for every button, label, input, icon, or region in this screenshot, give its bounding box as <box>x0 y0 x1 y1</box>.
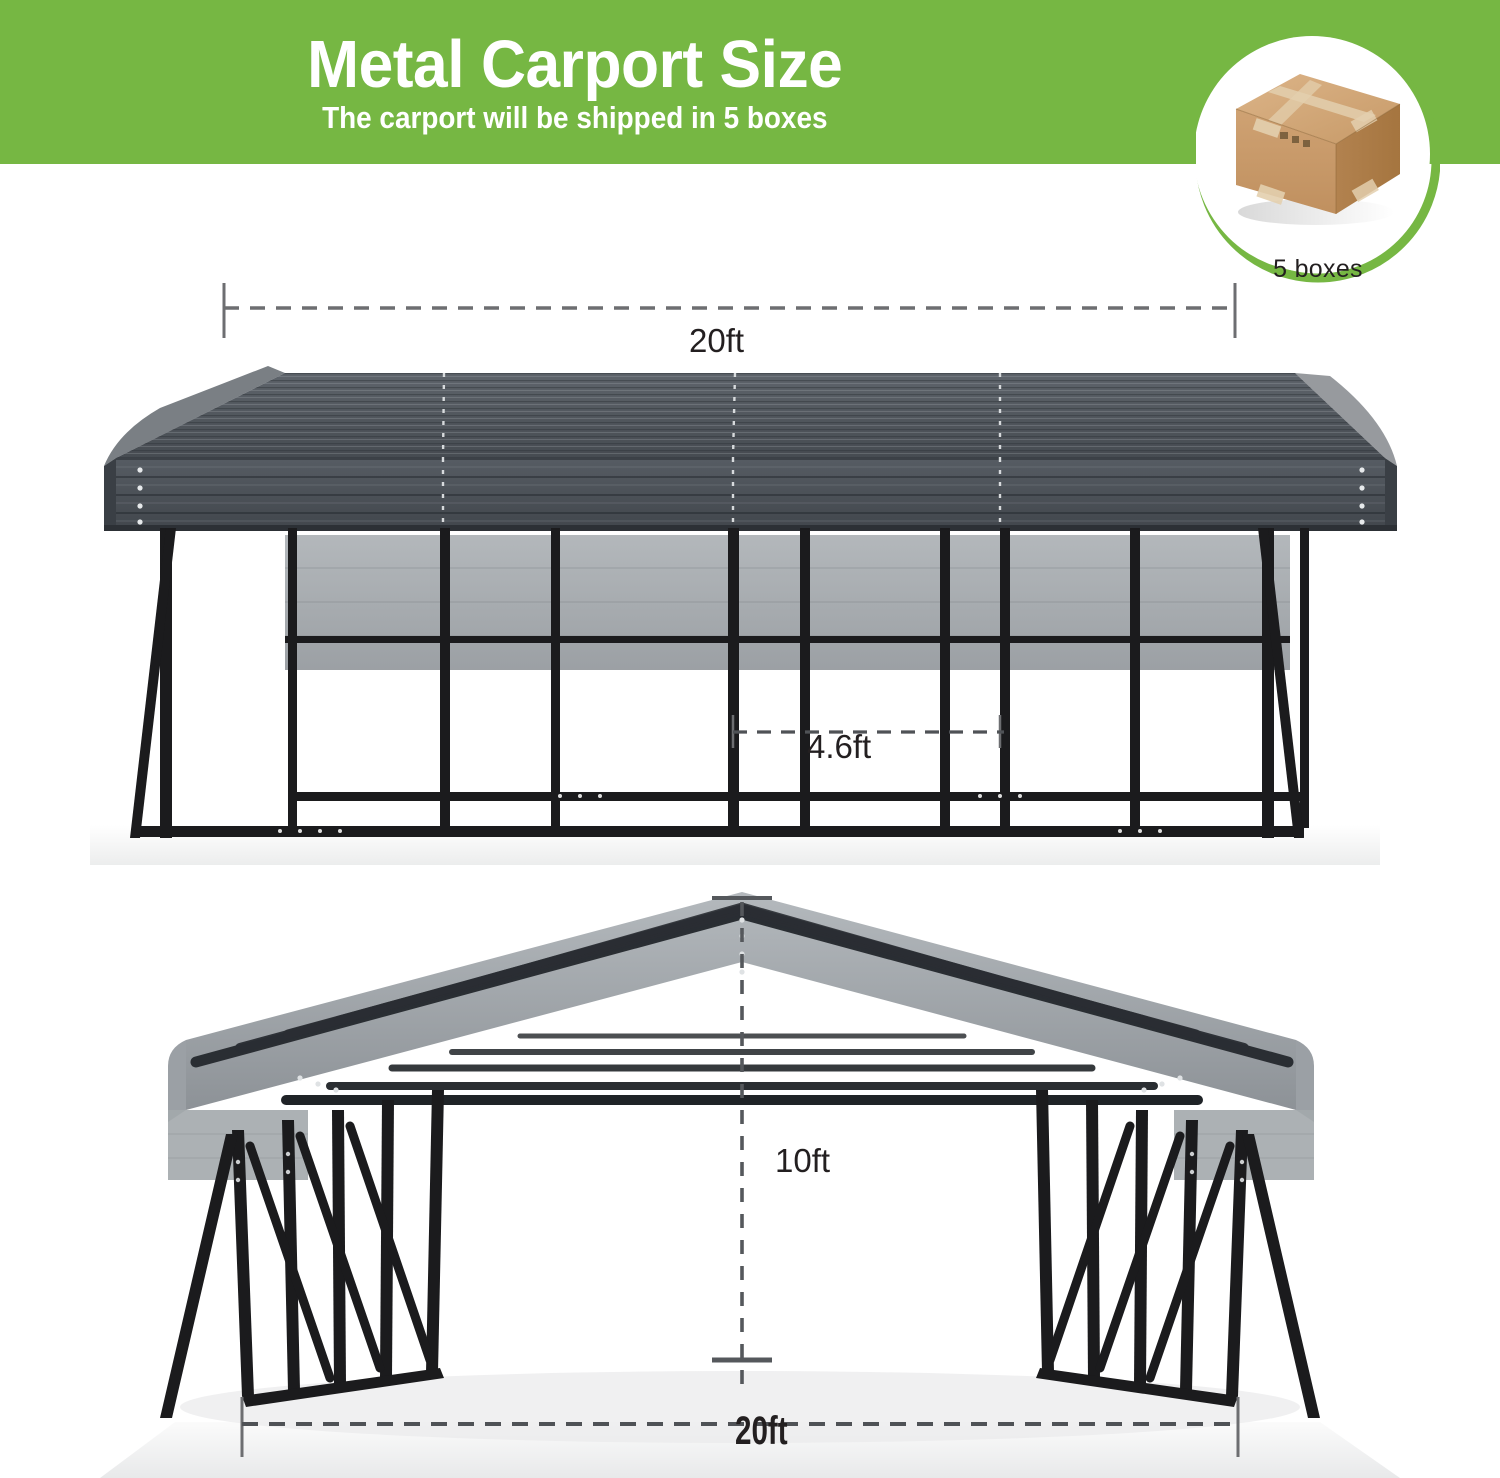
carport-side-perspective-diagram <box>0 170 1500 870</box>
header-text-block: Metal Carport Size The carport will be s… <box>0 0 1150 164</box>
dimension-width-bottom-label: 20ft <box>735 1409 788 1454</box>
dimension-height <box>712 902 772 1392</box>
page-subtitle: The carport will be shipped in 5 boxes <box>322 102 827 133</box>
dimension-bay-spacing-label: 4.6ft <box>807 728 871 766</box>
dimension-height-label: 10ft <box>775 1142 830 1180</box>
page-title: Metal Carport Size <box>307 31 842 98</box>
carport-front-perspective-diagram <box>0 862 1500 1478</box>
dimension-length-top-label: 20ft <box>689 322 744 360</box>
